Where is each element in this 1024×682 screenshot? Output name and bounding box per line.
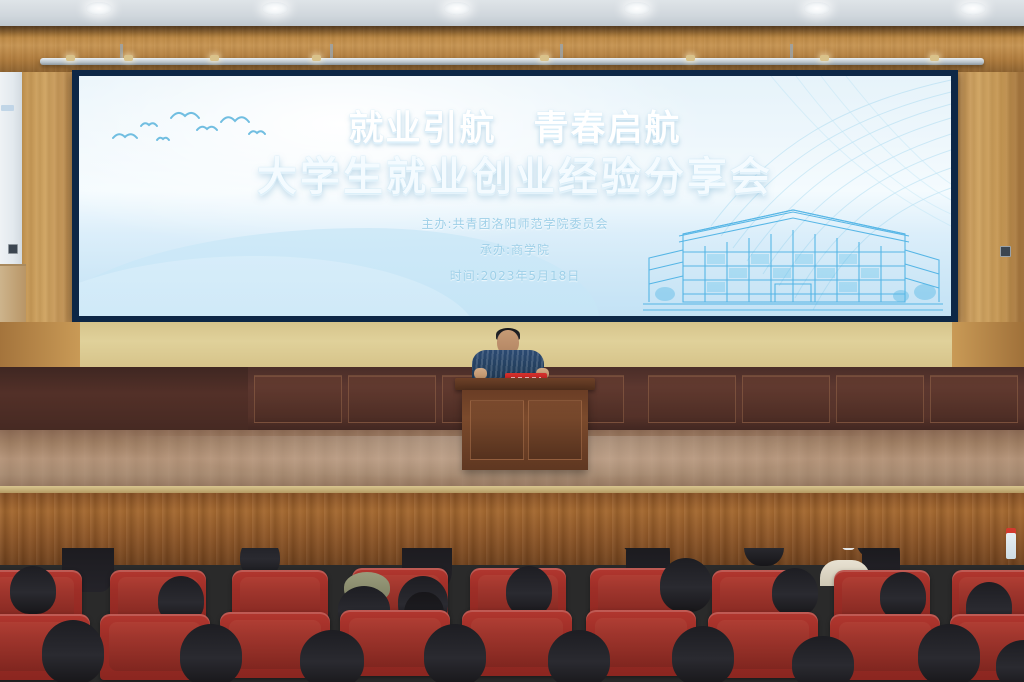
wainscot-panel-section <box>254 375 342 423</box>
audience-head <box>792 636 854 682</box>
organizer-line: 主办:共青团洛阳师范学院委员会 <box>421 215 608 232</box>
rail-lamp <box>540 55 549 61</box>
led-screen: 就业引航 青春启航 大学生就业创业经验分享会 主办:共青团洛阳师范学院委员会 承… <box>79 76 951 316</box>
audience-area <box>0 548 1024 682</box>
wall-sign <box>1 105 14 111</box>
wainscot-panel-section <box>348 375 436 423</box>
wainscot-panel-section <box>648 375 736 423</box>
audience-head <box>10 566 56 614</box>
stage-edge-trim <box>0 486 1024 493</box>
event-title-line-1: 就业引航 青春启航 <box>348 110 681 149</box>
audience-head <box>672 626 734 682</box>
rail-bracket <box>330 44 333 58</box>
rail-lamp <box>66 55 75 61</box>
rail-lamp <box>930 55 939 61</box>
host-line: 承办:商学院 <box>480 241 550 258</box>
audience-head <box>744 548 784 566</box>
stage-light-rail <box>40 58 984 65</box>
wainscot-panel-section <box>930 375 1018 423</box>
rail-lamp <box>210 55 219 61</box>
face-mask <box>842 548 855 550</box>
downlight <box>804 2 830 15</box>
event-title-line-2: 大学生就业创业经验分享会 <box>257 155 773 199</box>
rail-lamp <box>820 55 829 61</box>
rail-lamp <box>124 55 133 61</box>
wainscot-panel <box>248 367 1024 433</box>
audience-head <box>918 624 980 682</box>
podium-panel <box>528 400 582 460</box>
downlight <box>86 2 112 15</box>
downlight <box>624 2 650 15</box>
wall-switch-right[interactable] <box>1000 246 1011 257</box>
audience-head <box>180 624 242 682</box>
date-line: 时间:2023年5月18日 <box>450 267 581 284</box>
rail-bracket <box>790 44 793 58</box>
rail-bracket <box>120 44 123 58</box>
audience-head <box>880 572 926 620</box>
wall-switch[interactable] <box>8 244 18 254</box>
audience-head <box>506 566 552 616</box>
wainscot-panel-section <box>836 375 924 423</box>
downlight <box>262 2 288 15</box>
audience-head <box>424 624 486 682</box>
podium-top <box>455 378 595 390</box>
downlight <box>444 2 470 15</box>
rail-bracket <box>560 44 563 58</box>
valance-shadow <box>0 26 1024 38</box>
rail-lamp <box>686 55 695 61</box>
audience-head <box>300 630 364 682</box>
audience-head <box>660 558 712 612</box>
wainscot-left <box>0 367 250 433</box>
podium-lectern <box>462 390 588 470</box>
rail-lamp <box>312 55 321 61</box>
audience-head <box>772 568 818 616</box>
audience-head <box>548 630 610 682</box>
wainscot-panel-section <box>742 375 830 423</box>
podium-panel <box>470 400 524 460</box>
auditorium-scene: 就业引航 青春启航 大学生就业创业经验分享会 主办:共青团洛阳师范学院委员会 承… <box>0 0 1024 682</box>
screen-text-block: 就业引航 青春启航 大学生就业创业经验分享会 主办:共青团洛阳师范学院委员会 承… <box>79 76 951 316</box>
downlight <box>960 2 986 15</box>
audience-head <box>42 620 104 682</box>
